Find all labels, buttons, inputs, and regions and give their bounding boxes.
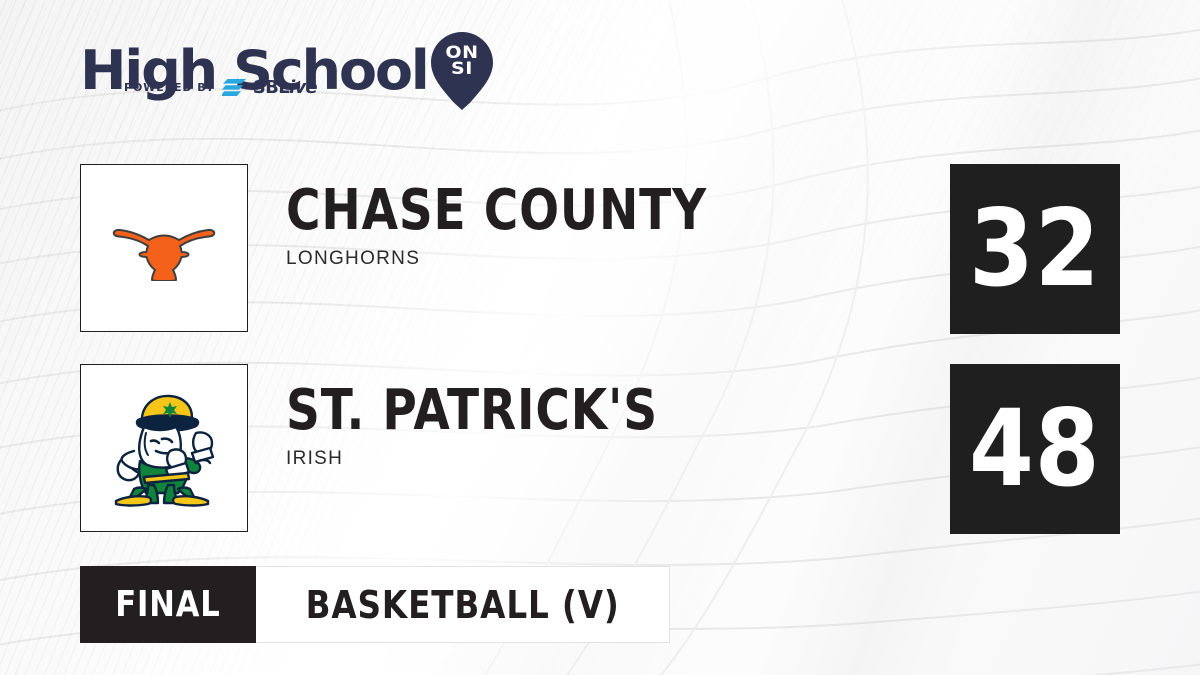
map-pin-label: ON SI [431, 45, 493, 77]
team-info: CHASE COUNTY LONGHORNS [286, 182, 986, 270]
sport-label-box: BASKETBALL (V) [256, 566, 670, 643]
fighting-irish-leprechaun-logo-icon [104, 389, 224, 507]
team-score-box: 32 [950, 164, 1120, 334]
sport-label: BASKETBALL (V) [305, 585, 619, 625]
status-badge: FINAL [80, 566, 256, 643]
powered-by-row: POWERED BY SBL ive [124, 78, 317, 96]
team-logo-box [80, 364, 248, 532]
sblive-italic-text: ive [289, 77, 317, 98]
powered-by-label: POWERED BY [124, 81, 215, 94]
team-mascot: LONGHORNS [286, 248, 986, 270]
map-pin-icon: ON SI [431, 32, 493, 110]
sblive-bold-text: SBL [253, 77, 289, 98]
team-name: ST. PATRICK'S [286, 382, 874, 440]
longhorn-logo-icon [111, 215, 217, 281]
game-status-bar: FINAL BASKETBALL (V) [80, 566, 670, 643]
team-score: 48 [969, 396, 1101, 502]
team-mascot: IRISH [286, 448, 986, 470]
status-badge-label: FINAL [115, 586, 220, 624]
sblive-wordmark: SBL ive [253, 77, 317, 98]
team-name: CHASE COUNTY [286, 182, 874, 240]
scoreboard-graphic: High School ON SI POWERED BY SBL iv [0, 0, 1200, 675]
team-score-box: 48 [950, 364, 1120, 534]
sblive-s-icon [222, 79, 246, 96]
team-score: 32 [969, 196, 1101, 302]
badge-bottom-text: SI [428, 61, 497, 77]
team-logo-box [80, 164, 248, 332]
team-info: ST. PATRICK'S IRISH [286, 382, 986, 470]
brand-title: High School ON SI [80, 32, 510, 110]
